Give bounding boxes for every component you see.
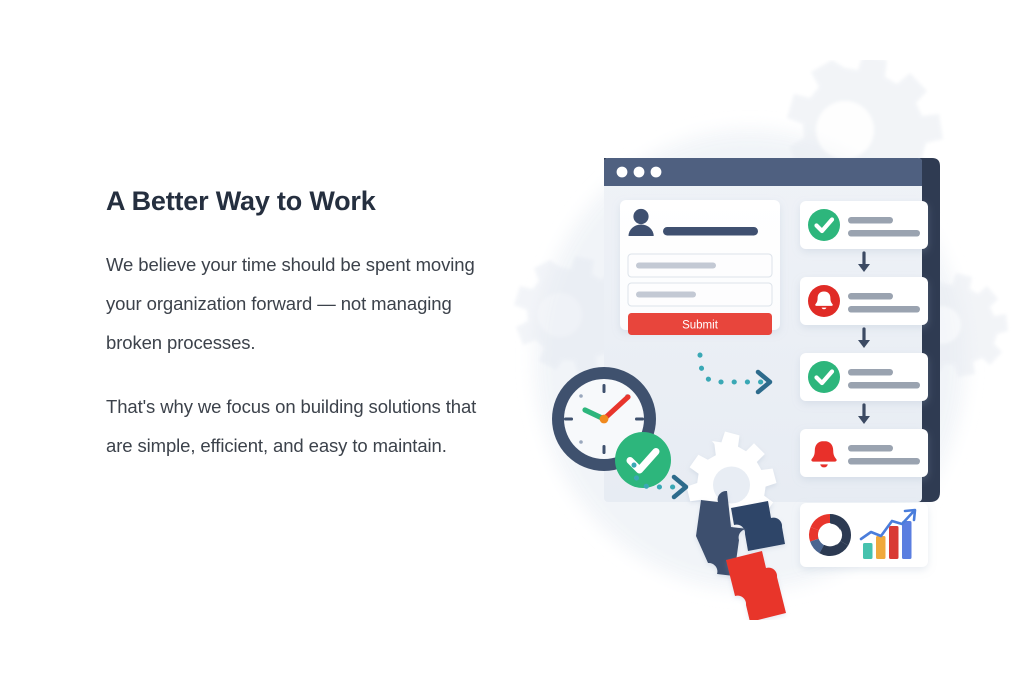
- hero-paragraph-1: We believe your time should be spent mov…: [106, 245, 506, 362]
- clock-center-pin: [600, 415, 609, 424]
- donut-chart-icon: [809, 514, 851, 556]
- clock-tick-6: [603, 445, 606, 454]
- workflow-card-4-line-2: [848, 458, 920, 465]
- bell-alert-icon: [808, 285, 840, 317]
- clock-tick-12: [603, 384, 606, 393]
- hero-text-column: A Better Way to Work We believe your tim…: [106, 185, 506, 465]
- workflow-card-2-line-1: [848, 293, 893, 300]
- workflow-automation-illustration: Submit: [500, 60, 1024, 620]
- workflow-card-3-line-1: [848, 369, 893, 376]
- clock-tick-3: [635, 418, 644, 421]
- browser-dot-2[interactable]: [634, 167, 645, 178]
- form-input-field-2[interactable]: [628, 283, 772, 306]
- check-circle-icon: [808, 361, 840, 393]
- submit-button-label: Submit: [682, 319, 719, 331]
- browser-dot-3[interactable]: [651, 167, 662, 178]
- check-circle-icon: [808, 209, 840, 241]
- workflow-card-4-line-1: [848, 445, 893, 452]
- workflow-card-3-line-2: [848, 382, 920, 389]
- workflow-card-2-line-2: [848, 306, 920, 313]
- browser-dot-1[interactable]: [617, 167, 628, 178]
- check-badge-icon: [615, 432, 671, 488]
- workflow-card-1-line-2: [848, 230, 920, 237]
- page-title: A Better Way to Work: [106, 185, 506, 217]
- analytics-card[interactable]: [800, 503, 928, 567]
- form-input-field-1[interactable]: [628, 254, 772, 277]
- workflow-card-2[interactable]: [800, 277, 928, 325]
- clock-tick-9: [564, 418, 573, 421]
- workflow-card-4[interactable]: [800, 429, 928, 477]
- clock-dot-4: [579, 440, 583, 444]
- workflow-card-3[interactable]: [800, 353, 928, 401]
- submit-button[interactable]: Submit: [628, 313, 772, 335]
- workflow-card-1-line-1: [848, 217, 893, 224]
- form-card-contents: Submit: [628, 209, 772, 335]
- clock-dot-3: [579, 394, 583, 398]
- page-root: A Better Way to Work We believe your tim…: [0, 0, 1024, 683]
- hero-paragraph-2: That's why we focus on building solution…: [106, 387, 506, 465]
- profile-name-bar: [663, 227, 758, 236]
- workflow-card-1[interactable]: [800, 201, 928, 249]
